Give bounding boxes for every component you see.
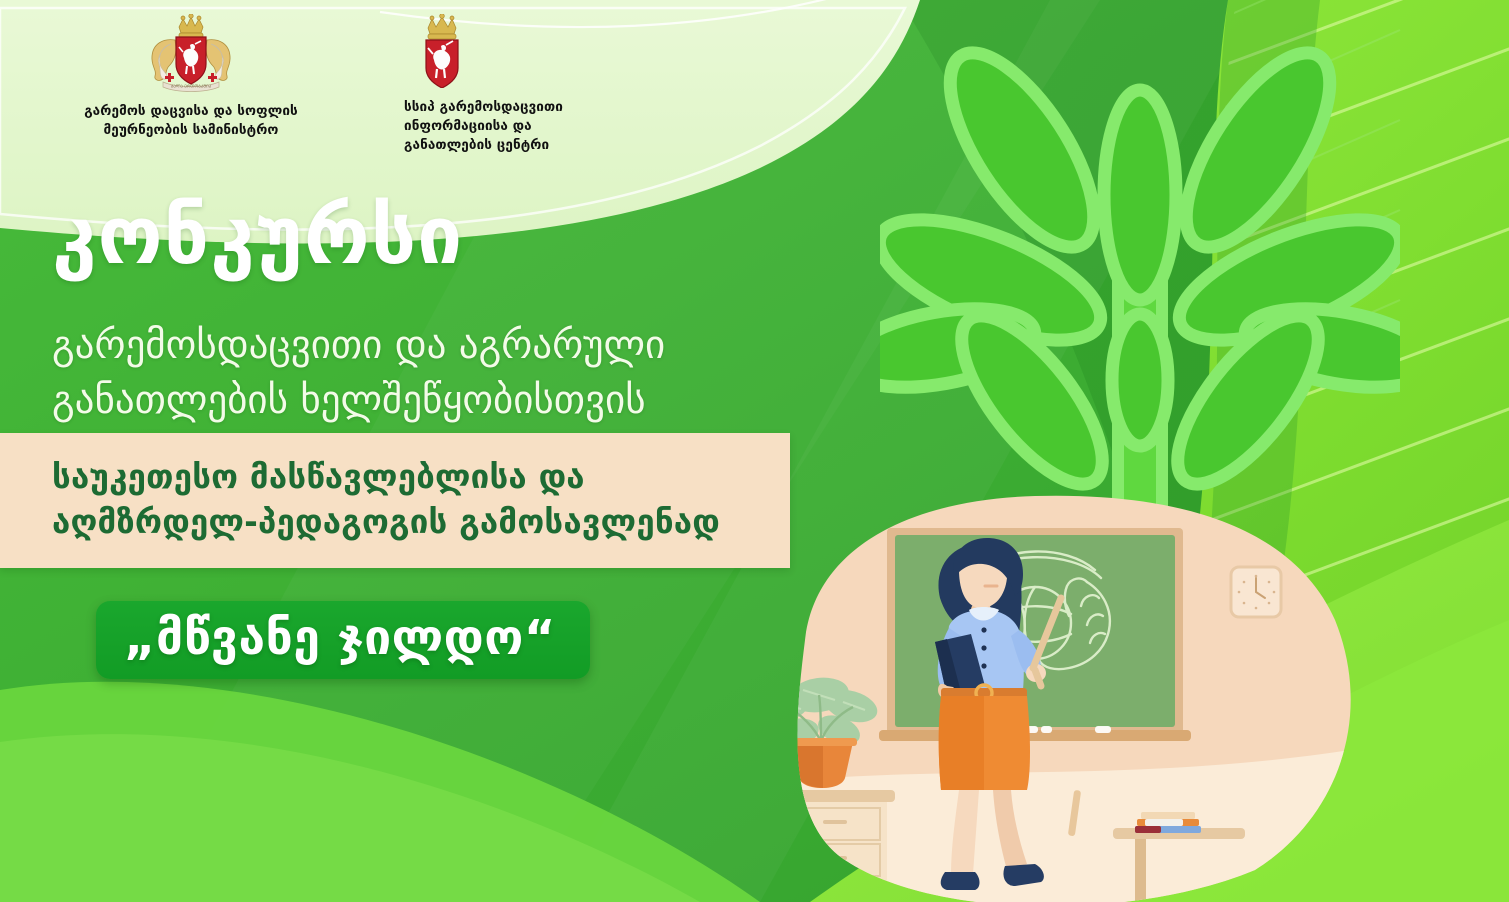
page-subtitle: გარემოსდაცვითი და აგრარული განათლების ხე…: [52, 318, 665, 429]
org-ministry: ᲫᲐᲚᲐ ᲔᲠᲗᲝᲑᲐᲨᲘᲐ გარემოს დაცვისა და სოფლის…: [46, 14, 336, 140]
georgia-coat-of-arms-icon: ᲫᲐᲚᲐ ᲔᲠᲗᲝᲑᲐᲨᲘᲐ: [143, 14, 239, 96]
highlight-banner: საუკეთესო მასწავლებლისა და აღმზრდელ-პედა…: [0, 433, 790, 568]
header-logos: ᲫᲐᲚᲐ ᲔᲠᲗᲝᲑᲐᲨᲘᲐ გარემოს დაცვისა და სოფლის…: [0, 0, 1000, 170]
award-badge: „მწვანე ჯილდო“: [96, 601, 590, 679]
org-center-name: სსიპ გარემოსდაცვითი ინფორმაციისა და განა…: [404, 98, 563, 155]
org-center: სსიპ გარემოსდაცვითი ინფორმაციისა და განა…: [394, 14, 654, 155]
georgia-shield-emblem-icon: [410, 14, 474, 88]
award-badge-text: „მწვანე ჯილდო“: [124, 614, 556, 662]
org-ministry-name: გარემოს დაცვისა და სოფლის მეურნეობის სამ…: [84, 102, 298, 140]
classroom-illustration: [735, 490, 1375, 902]
highlight-banner-text: საუკეთესო მასწავლებლისა და აღმზრდელ-პედა…: [52, 455, 770, 544]
wall-clock-icon: [1231, 567, 1281, 617]
svg-text:ᲫᲐᲚᲐ ᲔᲠᲗᲝᲑᲐᲨᲘᲐ: ᲫᲐᲚᲐ ᲔᲠᲗᲝᲑᲐᲨᲘᲐ: [171, 84, 212, 89]
poster-canvas: ᲫᲐᲚᲐ ᲔᲠᲗᲝᲑᲐᲨᲘᲐ გარემოს დაცვისა და სოფლის…: [0, 0, 1509, 902]
page-title: კონკურსი: [52, 196, 463, 276]
